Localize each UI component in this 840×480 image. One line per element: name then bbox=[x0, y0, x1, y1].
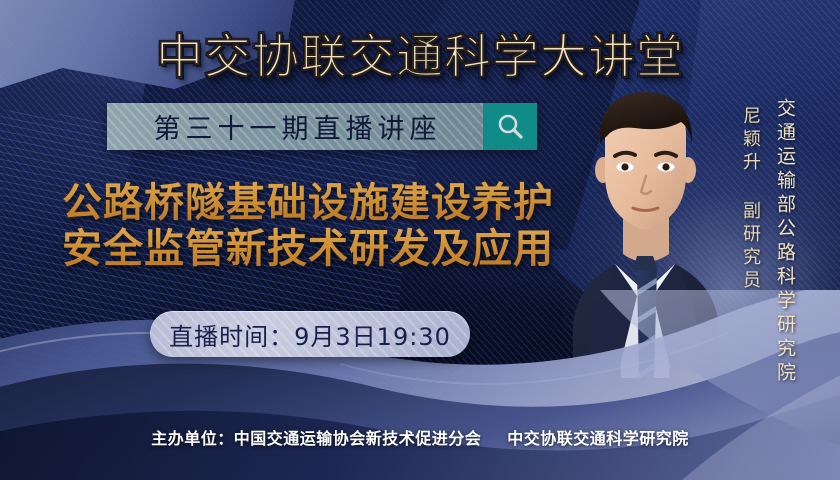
lecture-title: 公路桥隧基础设施建设养护 安全监管新技术研发及应用 bbox=[28, 180, 588, 273]
broadcast-time-text: 直播时间：9月3日19:30 bbox=[169, 317, 451, 352]
lecture-title-line-2: 安全监管新技术研发及应用 bbox=[28, 226, 588, 272]
speaker-name-title: 尼颖升 副研究员 bbox=[737, 106, 763, 293]
lecture-title-line-1: 公路桥隧基础设施建设养护 bbox=[28, 180, 588, 226]
footer-organizer: 主办单位：中国交通运输协会新技术促进分会 bbox=[151, 429, 481, 448]
footer-organizers: 主办单位：中国交通运输协会新技术促进分会中交协联交通科学研究院 bbox=[0, 425, 840, 449]
episode-banner: 第三十一期直播讲座 bbox=[107, 103, 537, 150]
footer-co-organizer: 中交协联交通科学研究院 bbox=[507, 429, 689, 448]
broadcast-time-badge: 直播时间：9月3日19:30 bbox=[150, 311, 470, 357]
episode-banner-body: 第三十一期直播讲座 bbox=[107, 103, 483, 150]
search-icon[interactable] bbox=[483, 103, 537, 150]
speaker-organization: 交通运输部公路科学研究院 bbox=[772, 98, 799, 386]
episode-label: 第三十一期直播讲座 bbox=[149, 107, 442, 146]
page-title: 中交协联交通科学大讲堂 bbox=[0, 18, 840, 87]
livestream-poster: 中交协联交通科学大讲堂 第三十一期直播讲座 公路桥隧基础设施建设养护 安全监管新… bbox=[0, 0, 840, 480]
